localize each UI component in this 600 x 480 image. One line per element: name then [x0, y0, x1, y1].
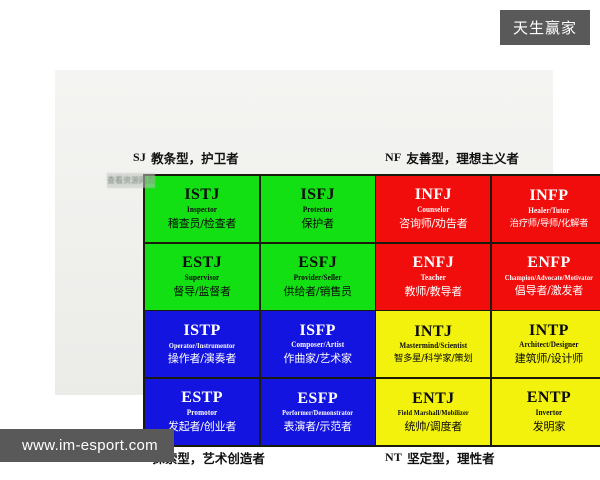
mbti-role-zh: 咨询师/劝告者: [399, 218, 467, 231]
quadrant-text-sj: 教条型，护卫者: [151, 148, 239, 167]
mbti-role-en: Promotor: [187, 410, 218, 419]
mbti-cell-istj[interactable]: ISTJInspector稽查员/检查者: [145, 176, 259, 242]
mbti-role-en: Inspector: [187, 207, 217, 216]
slide-card: SJ 教条型，护卫者 NF 友善型，理想主义者 SP 探索型，艺术创造者 NT …: [55, 70, 553, 395]
mbti-cell-estj[interactable]: ESTJSupervisor督导/监督者: [145, 244, 259, 310]
mbti-role-en: Architect/Designer: [519, 342, 579, 351]
mbti-cell-entp[interactable]: ENTPInvertor发明家: [492, 379, 600, 445]
mbti-code: ENTJ: [412, 391, 455, 408]
mbti-cell-enfp[interactable]: ENFPChampion/Advocate/Motivator倡导者/激发者: [492, 244, 600, 310]
mbti-code: INTJ: [414, 324, 452, 341]
mbti-code: ENFJ: [413, 255, 455, 272]
quadrant-code-sj: SJ: [133, 150, 146, 165]
mbti-cell-intj[interactable]: INTJMastermind/Scientist智多星/科学家/策划: [376, 311, 490, 377]
mbti-cell-intp[interactable]: INTPArchitect/Designer建筑师/设计师: [492, 311, 600, 377]
mbti-code: ISTP: [183, 323, 220, 340]
brand-badge: 天生赢家: [500, 10, 590, 45]
mbti-role-zh: 供给者/销售员: [284, 286, 352, 299]
mbti-code: INFJ: [415, 187, 452, 204]
mbti-role-zh: 作曲家/艺术家: [284, 353, 352, 366]
mbti-role-en: Protector: [303, 207, 333, 216]
quadrant-text-nf: 友善型，理想主义者: [406, 148, 519, 167]
mbti-code: INTP: [529, 323, 569, 340]
mbti-cell-infp[interactable]: INFPHealer/Tutor治疗师/导师/化解者: [492, 176, 600, 242]
mbti-code: ISFP: [300, 323, 336, 340]
mbti-role-en: Operator/Instrumentor: [169, 342, 235, 350]
mbti-role-en: Supervisor: [185, 274, 220, 283]
mbti-role-en: Healer/Tutor: [528, 208, 569, 217]
quadrant-label-nt: NT 坚定型，理性者: [385, 448, 495, 467]
mbti-code: ESTJ: [182, 255, 222, 272]
mbti-role-en: Counselor: [417, 207, 449, 216]
mbti-code: ESFJ: [298, 255, 337, 272]
edge-watermark: 查看资源网页: [107, 173, 155, 188]
mbti-code: ISTJ: [184, 187, 219, 204]
mbti-role-en: Mastermind/Scientist: [399, 343, 467, 352]
mbti-role-zh: 保护者: [301, 218, 333, 231]
mbti-code: ESTP: [181, 390, 223, 407]
mbti-type-grid: ISTJInspector稽查员/检查者ISFJProtector保护者INFJ…: [143, 174, 600, 447]
mbti-role-zh: 教师/教导者: [405, 286, 463, 299]
mbti-role-zh: 倡导者/激发者: [515, 285, 583, 298]
mbti-role-en: Performer/Demonstrator: [282, 410, 353, 418]
mbti-role-zh: 智多星/科学家/策划: [394, 354, 473, 365]
mbti-cell-isfj[interactable]: ISFJProtector保护者: [261, 176, 375, 242]
mbti-role-en: Teacher: [421, 274, 446, 283]
mbti-role-zh: 发明家: [533, 421, 565, 434]
quadrant-code-nt: NT: [385, 450, 402, 465]
mbti-code: ENTP: [527, 390, 571, 407]
mbti-cell-istp[interactable]: ISTPOperator/Instrumentor操作者/演奏者: [145, 311, 259, 377]
mbti-code: ESFP: [297, 391, 338, 408]
quadrant-label-sj: SJ 教条型，护卫者: [133, 148, 239, 167]
mbti-code: ISFJ: [300, 187, 335, 204]
mbti-code: INFP: [529, 188, 568, 205]
mbti-cell-isfp[interactable]: ISFPComposer/Artist作曲家/艺术家: [261, 311, 375, 377]
mbti-role-zh: 统帅/调度者: [405, 421, 463, 434]
mbti-cell-enfj[interactable]: ENFJTeacher教师/教导者: [376, 244, 490, 310]
mbti-role-zh: 操作者/演奏者: [168, 353, 236, 366]
mbti-role-zh: 发起者/创业者: [168, 421, 236, 434]
mbti-cell-esfp[interactable]: ESFPPerformer/Demonstrator表演者/示范者: [261, 379, 375, 445]
site-watermark: www.im-esport.com: [0, 429, 174, 462]
mbti-role-en: Invertor: [536, 410, 563, 419]
mbti-cell-esfj[interactable]: ESFJProvider/Seller供给者/销售员: [261, 244, 375, 310]
mbti-cell-infj[interactable]: INFJCounselor咨询师/劝告者: [376, 176, 490, 242]
mbti-role-zh: 督导/监督者: [173, 286, 231, 299]
mbti-role-en: Composer/Artist: [291, 342, 344, 351]
mbti-role-zh: 建筑师/设计师: [515, 353, 583, 366]
quadrant-code-nf: NF: [385, 150, 401, 165]
mbti-role-zh: 表演者/示范者: [284, 421, 352, 434]
mbti-role-en: Field Marshall/Mobilizer: [398, 410, 469, 418]
quadrant-label-nf: NF 友善型，理想主义者: [385, 148, 519, 167]
mbti-role-en: Champion/Advocate/Motivator: [505, 275, 593, 283]
mbti-role-en: Provider/Seller: [294, 274, 342, 283]
quadrant-text-nt: 坚定型，理性者: [407, 448, 495, 467]
mbti-code: ENFP: [527, 255, 570, 272]
mbti-role-zh: 治疗师/导师/化解者: [510, 219, 589, 230]
mbti-cell-entj[interactable]: ENTJField Marshall/Mobilizer统帅/调度者: [376, 379, 490, 445]
mbti-role-zh: 稽查员/检查者: [168, 218, 236, 231]
